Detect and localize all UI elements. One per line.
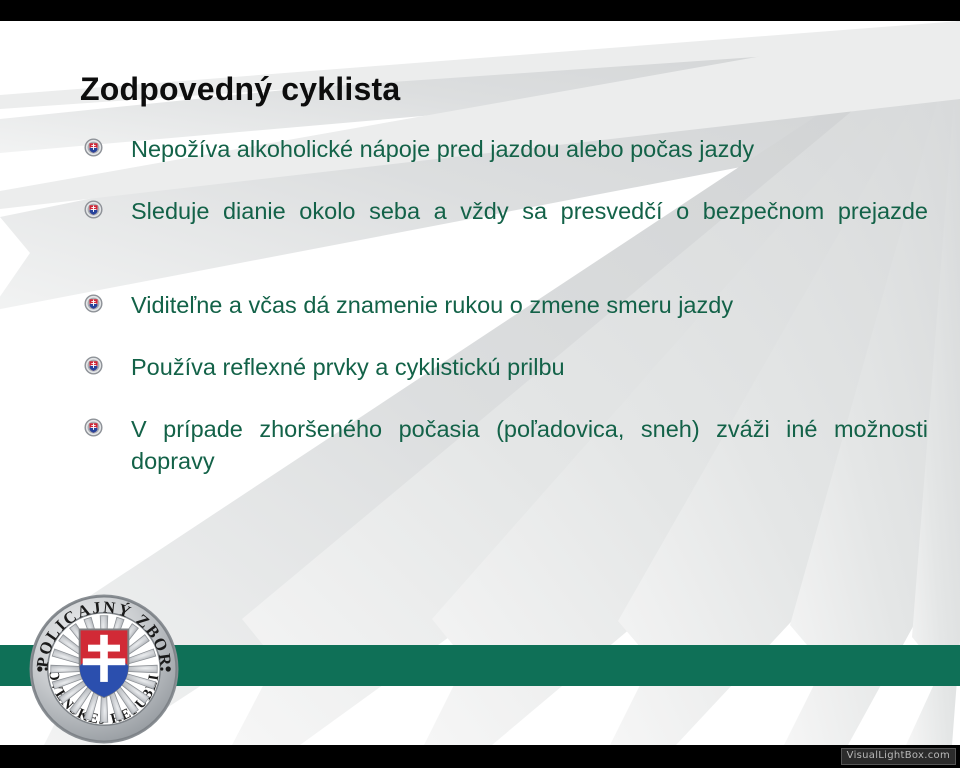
police-badge-icon [84, 356, 103, 375]
list-item-label: V prípade zhoršeného počasia (poľadovica… [131, 413, 928, 509]
slide-root: Zodpovedný cyklista [0, 0, 960, 768]
police-badge-icon [84, 418, 103, 437]
list-item: Sleduje dianie okolo seba a vždy sa pres… [80, 195, 928, 259]
list-item-label: Viditeľne a včas dá znamenie rukou o zme… [131, 289, 928, 321]
list-item-label: Nepožíva alkoholické nápoje pred jazdou … [131, 133, 928, 165]
police-badge-icon [84, 294, 103, 313]
list-item: Nepožíva alkoholické nápoje pred jazdou … [80, 133, 928, 165]
list-item: Používa reflexné prvky a cyklistickú pri… [80, 351, 928, 383]
slide-canvas: Zodpovedný cyklista [0, 21, 960, 745]
police-badge-icon [84, 200, 103, 219]
letterbox-top [0, 0, 960, 21]
page-title: Zodpovedný cyklista [80, 71, 400, 108]
list-item: V prípade zhoršeného počasia (poľadovica… [80, 413, 928, 509]
list-item: Viditeľne a včas dá znamenie rukou o zme… [80, 289, 928, 321]
slovak-police-badge-logo: POLICAJNÝ ZBOR SLOVENSKEJ REPUBLIKY [28, 593, 180, 745]
letterbox-bottom [0, 745, 960, 768]
bullet-list: Nepožíva alkoholické nápoje pred jazdou … [80, 133, 928, 509]
list-item-label: Sleduje dianie okolo seba a vždy sa pres… [131, 195, 928, 259]
police-badge-icon [84, 138, 103, 157]
list-item-label: Používa reflexné prvky a cyklistickú pri… [131, 351, 928, 383]
watermark-label: VisualLightBox.com [841, 748, 956, 765]
